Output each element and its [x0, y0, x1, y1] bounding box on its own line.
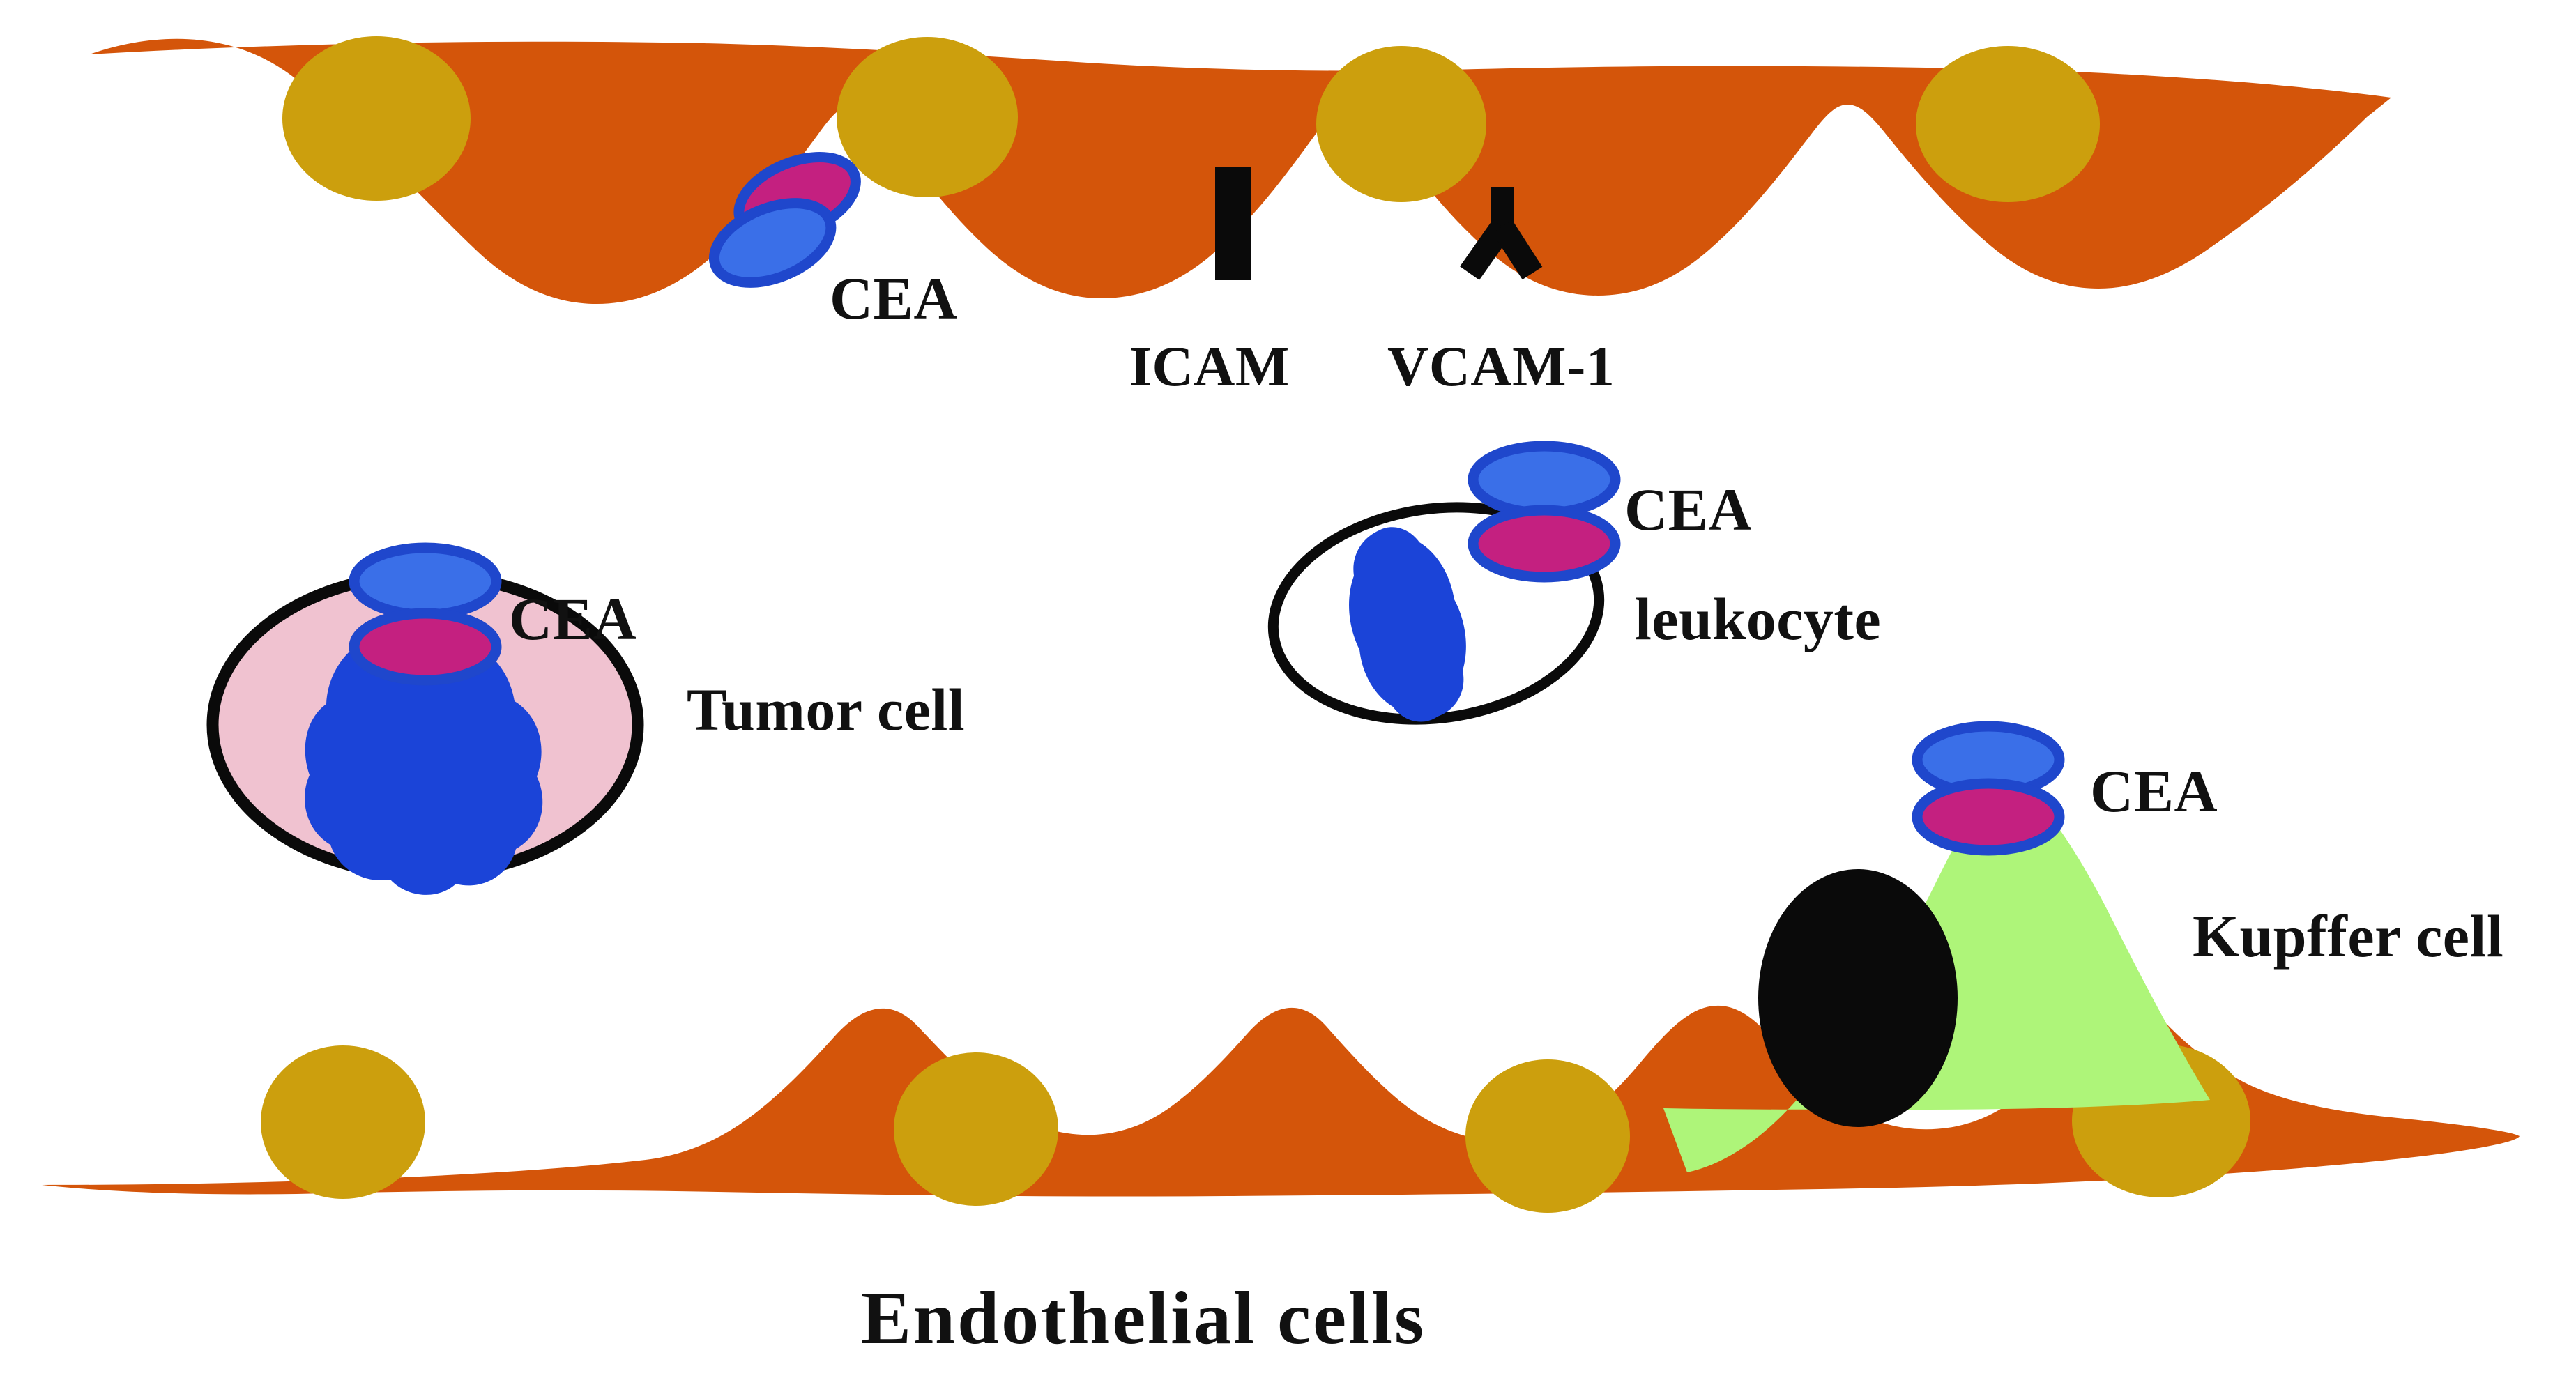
label-cea-kupffer: CEA [2090, 761, 2218, 821]
bottom-endothelium-nucleus-2 [894, 1052, 1058, 1206]
top-endothelium-nucleus-2 [837, 37, 1018, 197]
kupffer-cell-nucleus [1758, 869, 1958, 1127]
label-tumor-cell: Tumor cell [687, 680, 965, 740]
cea-tumor-blue [354, 548, 496, 615]
bottom-endothelium-nucleus-1 [261, 1045, 425, 1199]
diagram-canvas: CEA ICAM VCAM-1 CEA leukocyte CEA Tumor … [0, 0, 2576, 1394]
label-leukocyte: leukocyte [1635, 589, 1881, 649]
label-vcam1: VCAM-1 [1387, 338, 1615, 395]
bottom-endothelium-nucleus-3 [1465, 1059, 1630, 1213]
cea-tumor-magenta [354, 613, 496, 680]
top-endothelium-nucleus-1 [282, 36, 471, 201]
leukocyte-group [1259, 446, 1615, 740]
label-icam: ICAM [1129, 338, 1290, 395]
top-endothelium-nucleus-4 [1916, 46, 2100, 202]
cea-kupffer-magenta [1917, 783, 2059, 850]
cea-kupffer-marker [1917, 726, 2059, 850]
label-cea-endothelium: CEA [830, 268, 957, 328]
label-cea-leukocyte: CEA [1624, 480, 1752, 539]
cea-leukocyte-magenta [1473, 510, 1615, 577]
label-cea-tumor: CEA [509, 589, 637, 649]
cea-leukocyte-blue [1473, 446, 1615, 513]
diagram-svg [0, 0, 2576, 1394]
icam-molecule-icon [1215, 167, 1251, 280]
top-endothelium-nucleus-3 [1316, 46, 1486, 202]
label-kupffer-cell: Kupffer cell [2193, 906, 2503, 966]
label-endothelial-cells: Endothelial cells [861, 1281, 1426, 1356]
